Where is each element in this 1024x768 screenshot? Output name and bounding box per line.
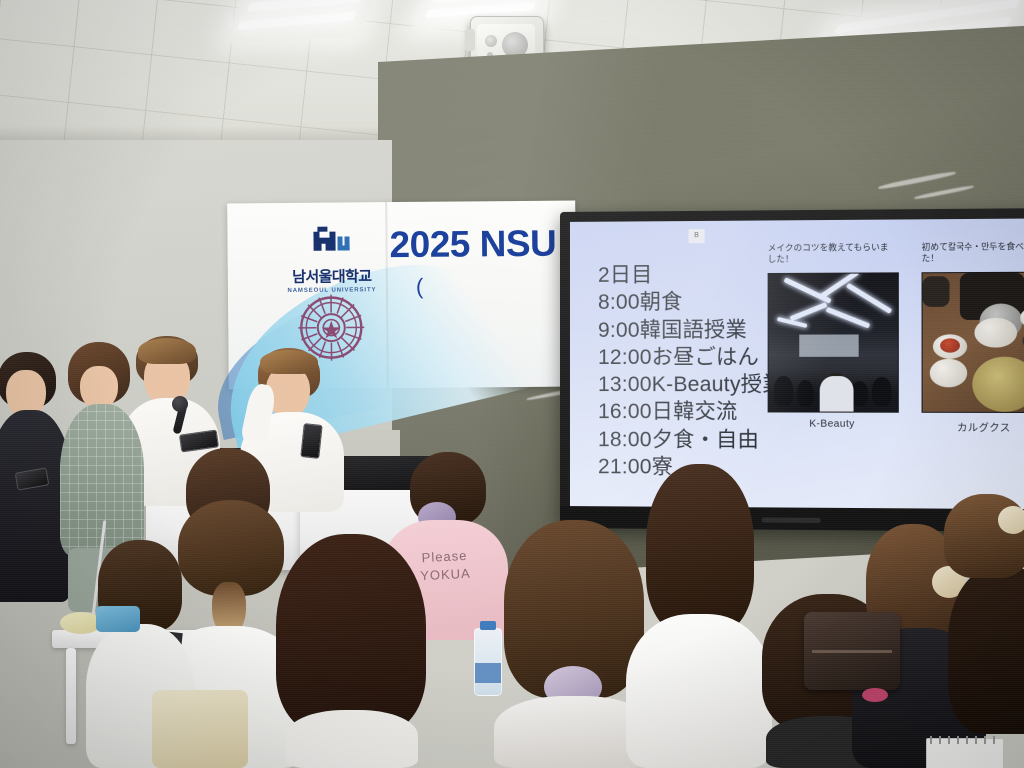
hair: [276, 534, 426, 734]
torso: [626, 614, 772, 768]
microphone-head: [172, 396, 188, 412]
scrunchie: [998, 506, 1024, 534]
tshirt-text-line2: YOKUA: [420, 565, 471, 583]
audience-member: [636, 464, 762, 768]
torso: [286, 710, 418, 768]
classroom-presentation-photo: 남서울대학교 NAMSEOUL UNIVERSITY: [0, 0, 1024, 768]
wall-mounted-tv[interactable]: B 2日目 8:00朝食 9:00韓国語授業 12:00お昼ごはん 13:00K…: [560, 208, 1024, 532]
speaker-bracket: [465, 29, 475, 51]
bottle-cap: [480, 621, 496, 630]
water-bottle[interactable]: [474, 628, 502, 696]
hair-front: [138, 338, 196, 364]
tshirt-text-line1: Please: [421, 548, 467, 565]
bag-zipper: [812, 650, 892, 653]
speaker-tweeter-icon: [485, 35, 497, 47]
tote-bag[interactable]: [152, 690, 248, 768]
pink-item: [862, 688, 888, 702]
audience-member: [276, 534, 426, 768]
hair: [646, 464, 754, 634]
bottle-label: [475, 663, 501, 683]
hair-front: [260, 350, 318, 374]
banner-subtitle: (: [416, 274, 424, 300]
university-logo: 남서울대학교 NAMSEOUL UNIVERSITY: [271, 222, 392, 294]
notebook-spiral: [930, 736, 998, 744]
smartphone[interactable]: [300, 423, 322, 459]
nsu-mark-icon: [303, 222, 359, 262]
audience-member: [936, 494, 1024, 614]
student-desk-leg: [66, 648, 76, 744]
ir-sensor: [762, 517, 821, 522]
logo-korean-name: 남서울대학교: [272, 265, 392, 287]
blue-pouch: [96, 606, 140, 632]
